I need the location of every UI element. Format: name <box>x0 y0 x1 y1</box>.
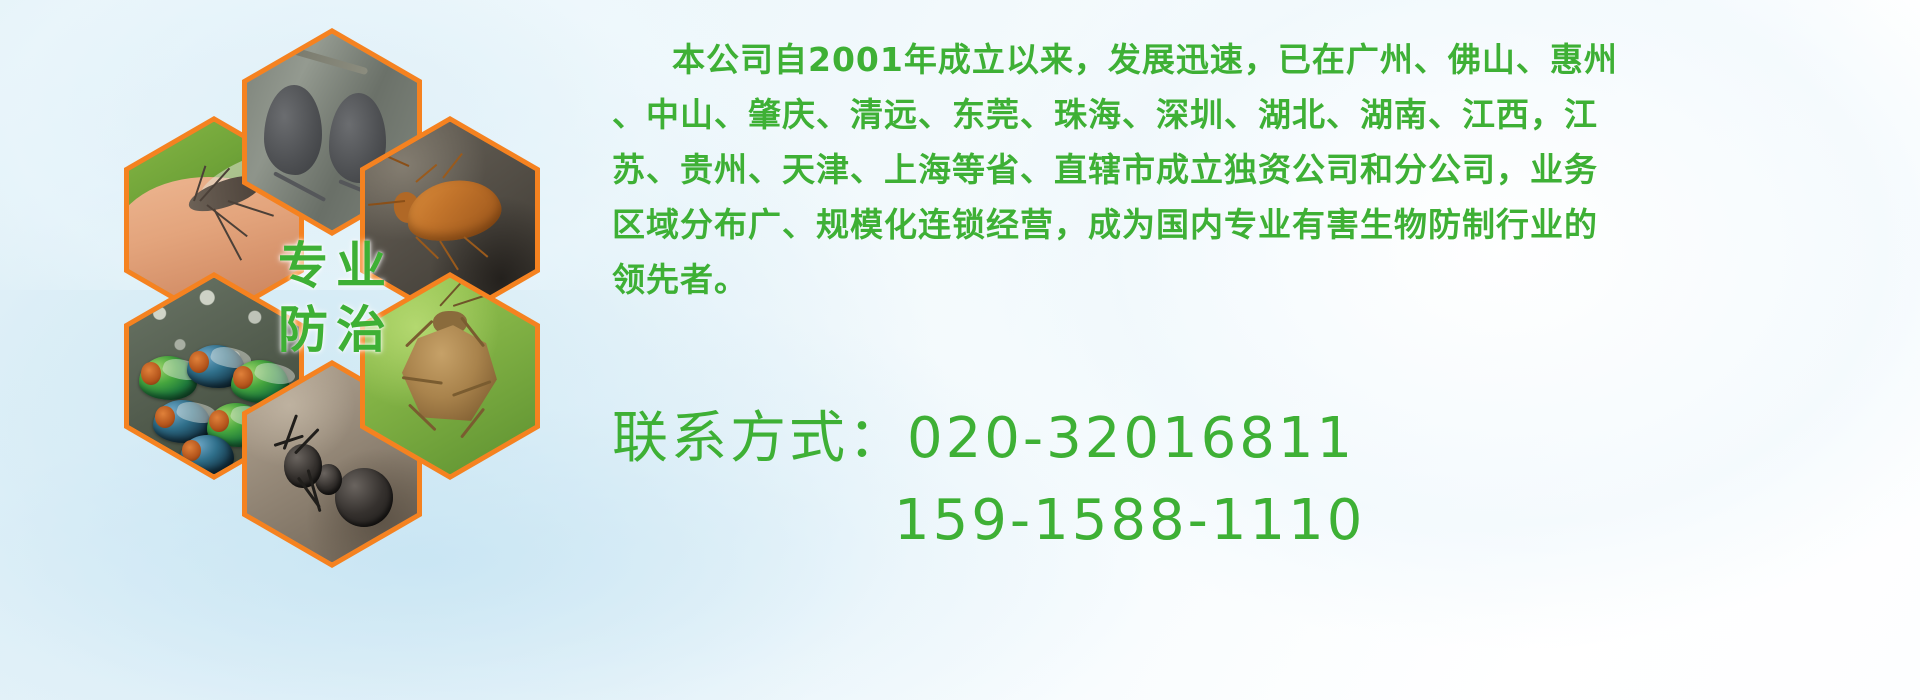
contact-block: 联系方式：020-32016811 159-1588-1110 <box>612 398 1912 562</box>
intro-line-5: 领先者。 <box>612 252 1912 307</box>
contact-primary-phone[interactable]: 联系方式：020-32016811 <box>612 398 1912 480</box>
intro-line-1: 本公司自2001年成立以来，发展迅速，已在广州、佛山、惠州 <box>612 32 1912 87</box>
center-label-line-1: 专业 <box>270 234 394 298</box>
promo-banner: 专业 防治 本公司自2001年成立以来，发展迅速，已在广州、佛山、惠州 、中山、… <box>0 0 1920 700</box>
contact-secondary-phone[interactable]: 159-1588-1110 <box>612 480 1912 562</box>
intro-line-3: 苏、贵州、天津、上海等省、直辖市成立独资公司和分公司，业务 <box>612 142 1912 197</box>
cluster-center-label: 专业 防治 <box>242 194 422 402</box>
center-label-line-2: 防治 <box>270 298 394 362</box>
intro-line-4: 区域分布广、规模化连锁经营，成为国内专业有害生物防制行业的 <box>612 197 1912 252</box>
intro-line-2: 、中山、肇庆、清远、东莞、珠海、深圳、湖北、湖南、江西，江 <box>612 87 1912 142</box>
company-intro-paragraph: 本公司自2001年成立以来，发展迅速，已在广州、佛山、惠州 、中山、肇庆、清远、… <box>612 32 1912 307</box>
hexagon-photo-cluster: 专业 防治 <box>96 8 596 568</box>
